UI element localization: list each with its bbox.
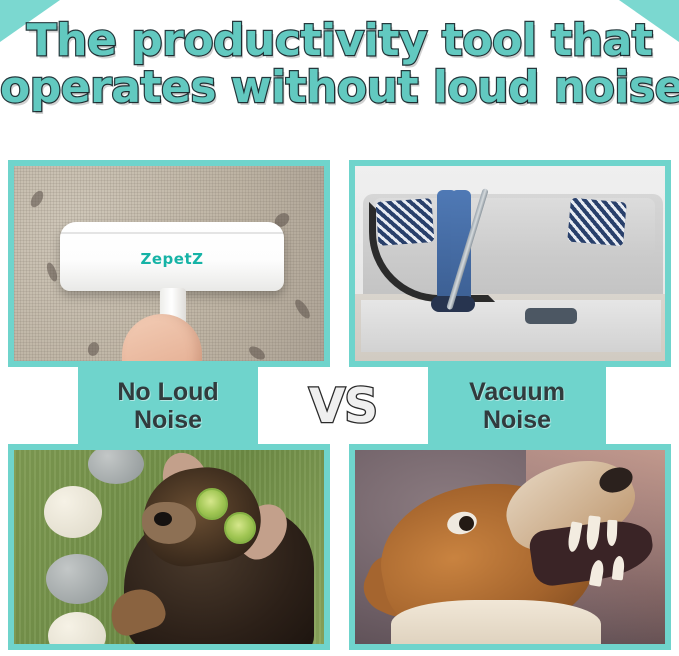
comparison-label-right-line-1: Vacuum	[469, 378, 565, 406]
spa-stone	[44, 486, 102, 538]
versus-badge: VS	[258, 367, 428, 445]
headline-line-1: The productivity tool that	[0, 18, 679, 65]
comparison-label-left-line-2: Noise	[134, 406, 202, 434]
roller-photo-scene: ZepetZ	[14, 166, 324, 361]
spa-stone	[46, 554, 108, 604]
dog-pupil	[459, 516, 474, 531]
cucumber-slice	[224, 512, 256, 544]
infographic-root: The productivity tool that operates with…	[0, 0, 679, 656]
comparison-label-left: No Loud Noise	[78, 371, 258, 441]
product-brand-label: ZepetZ	[60, 250, 284, 268]
comparison-label-right: Vacuum Noise	[428, 371, 606, 441]
area-rug	[361, 300, 661, 352]
spa-dog-photo-scene	[14, 450, 324, 644]
roller-seam	[60, 232, 284, 234]
photo-relaxed-dog	[8, 444, 330, 650]
patterned-pillow	[567, 198, 627, 247]
dog-chest	[391, 600, 601, 644]
vacuum-photo-scene	[355, 166, 665, 361]
dog-nose	[154, 512, 172, 526]
photo-pet-hair-roller: ZepetZ	[8, 160, 330, 367]
comparison-label-left-line-1: No Loud	[117, 378, 218, 406]
headline-line-2: operates without loud noise	[0, 65, 679, 112]
photo-vacuum-cleaning	[349, 160, 671, 367]
cucumber-slice	[196, 488, 228, 520]
comparison-label-right-line-2: Noise	[483, 406, 551, 434]
barking-dog-photo-scene	[355, 450, 665, 644]
vacuum-head	[525, 308, 577, 324]
photo-barking-dog	[349, 444, 671, 650]
headline: The productivity tool that operates with…	[0, 18, 679, 111]
